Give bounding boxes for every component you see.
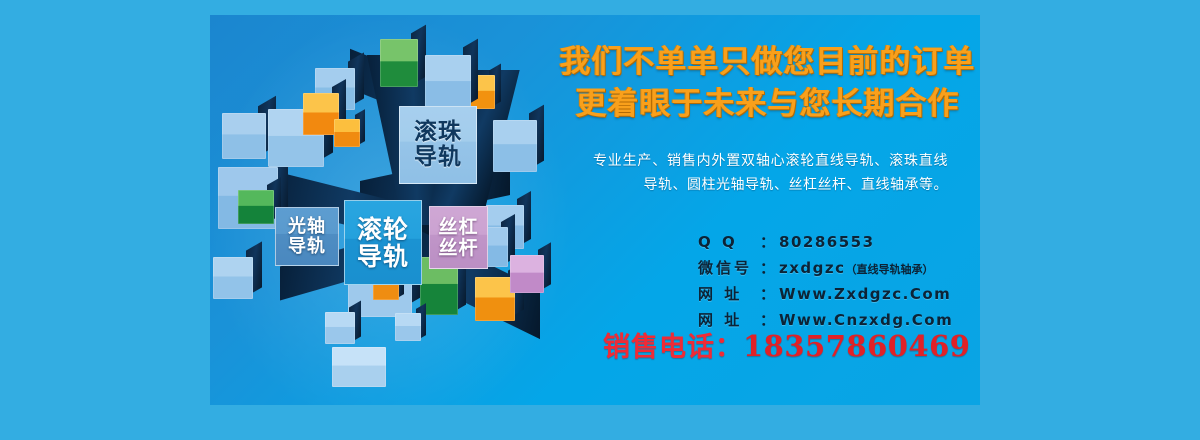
contact-row-website-1: 网 址 ： Www.Zxdgzc.Com: [698, 283, 978, 304]
banner-content: 我们不单单只做您目前的订单 更着眼于未来与您长期合作 专业生产、销售内外置双轴心…: [555, 15, 980, 405]
decorative-cube-orange: [475, 277, 515, 321]
promo-banner: 滚珠 导轨 光轴 导轨 丝杠 丝杆 滚轮 导轨 我们不单单只做您目前的订单 更着…: [0, 0, 1200, 440]
contact-label: Q Q: [698, 233, 760, 251]
product-label-line1: 丝杠: [438, 217, 478, 238]
contact-colon: ：: [760, 231, 775, 252]
decorative-cube: [213, 257, 253, 299]
decorative-cube: [325, 312, 355, 344]
product-label-line2: 丝杆: [438, 238, 478, 259]
contact-label: 网 址: [698, 283, 760, 304]
product-label-gunzhu-daogui[interactable]: 滚珠 导轨: [399, 106, 477, 184]
headline-line-1: 我们不单单只做您目前的订单: [555, 41, 980, 83]
decorative-cube: [395, 313, 421, 341]
contact-value-website-1[interactable]: Www.Zxdgzc.Com: [779, 285, 951, 303]
product-label-sigang-sigan[interactable]: 丝杠 丝杆: [429, 206, 488, 269]
description-text: 专业生产、销售内外置双轴心滚轮直线导轨、滚珠直线导轨、圆柱光轴导轨、丝杠丝杆、直…: [593, 149, 948, 197]
product-label-line2: 导轨: [414, 145, 462, 170]
decorative-cube-green: [238, 190, 274, 224]
product-label-guangzhou-daogui[interactable]: 光轴 导轨: [275, 207, 339, 266]
sales-phone-label: 销售电话：: [603, 325, 743, 364]
decorative-cube: [332, 347, 386, 387]
contact-row-qq: Q Q ： 80286553: [698, 231, 978, 252]
product-label-gunlun-daogui[interactable]: 滚轮 导轨: [344, 200, 422, 285]
decorative-cube: [425, 55, 471, 111]
sales-phone-number[interactable]: 18357860469: [743, 329, 970, 363]
product-label-line2: 导轨: [357, 243, 409, 270]
cube-cluster-graphic: 滚珠 导轨 光轴 导轨 丝杠 丝杆 滚轮 导轨: [210, 15, 590, 405]
product-label-line1: 光轴: [288, 217, 326, 236]
headline: 我们不单单只做您目前的订单 更着眼于未来与您长期合作: [555, 41, 980, 125]
contact-value-qq[interactable]: 80286553: [779, 233, 875, 251]
product-label-line1: 滚轮: [357, 216, 409, 243]
decorative-cube: [493, 120, 537, 172]
decorative-cube: [222, 113, 266, 159]
product-label-line2: 导轨: [288, 237, 326, 256]
decorative-cube-orange: [334, 119, 360, 147]
contact-label: 微信号: [698, 257, 760, 278]
contact-block: Q Q ： 80286553 微信号 ： zxdgzc （直线导轨轴承） 网 址…: [698, 231, 978, 335]
contact-colon: ：: [760, 257, 775, 278]
headline-line-2: 更着眼于未来与您长期合作: [555, 83, 980, 125]
contact-row-wechat: 微信号 ： zxdgzc （直线导轨轴承）: [698, 257, 978, 278]
sales-phone[interactable]: 销售电话： 18357860469: [603, 325, 980, 364]
product-label-line1: 滚珠: [414, 120, 462, 145]
contact-note-wechat: （直线导轨轴承）: [846, 261, 934, 277]
decorative-cube-pink: [510, 255, 544, 293]
contact-value-wechat[interactable]: zxdgzc: [779, 259, 846, 277]
decorative-cube-green: [380, 39, 418, 87]
banner-panel: 滚珠 导轨 光轴 导轨 丝杠 丝杆 滚轮 导轨 我们不单单只做您目前的订单 更着…: [210, 15, 980, 405]
contact-colon: ：: [760, 283, 775, 304]
